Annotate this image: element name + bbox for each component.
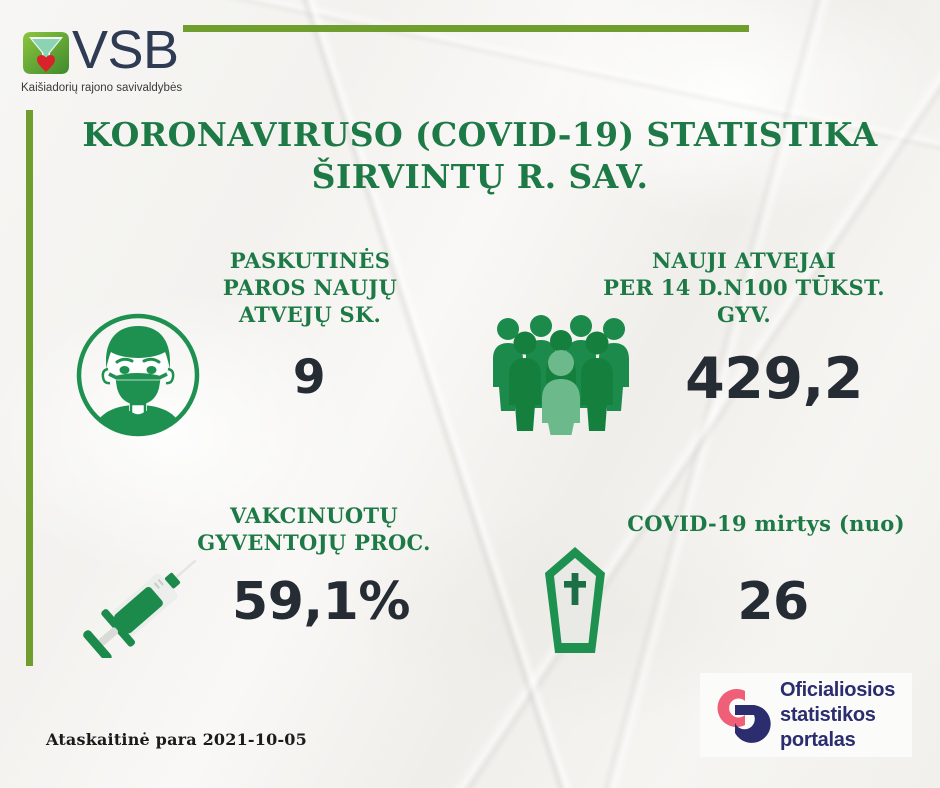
page-title-line-1: KORONAVIRUSO (COVID-19) STATISTIKA xyxy=(60,114,900,156)
official-statistics-portal-logo-icon xyxy=(704,679,776,751)
vsb-logo: VSB Kaišiadorių rajono savivaldybės xyxy=(20,27,195,95)
report-date: Ataskaitinė para 2021-10-05 xyxy=(46,730,307,749)
stat-label-line: PAROS NAUJŲ xyxy=(176,274,444,301)
coffin-icon xyxy=(539,545,611,655)
osp-wordmark-line-1: Oficialiosios xyxy=(780,678,895,703)
left-accent-rule xyxy=(26,110,33,666)
page-title: KORONAVIRUSO (COVID-19) STATISTIKA ŠIRVI… xyxy=(60,114,900,198)
page-title-line-2: ŠIRVINTŲ R. SAV. xyxy=(60,156,900,198)
osp-wordmark-line-3: portalas xyxy=(780,728,895,753)
stat-value-covid-deaths: 26 xyxy=(678,572,868,632)
stat-label-cases-per-100k: NAUJI ATVEJAIPER 14 D.N100 TŪKST.GYV. xyxy=(586,247,902,328)
stat-value-daily-new-cases: 9 xyxy=(246,352,372,404)
stat-label-line: GYVENTOJŲ PROC. xyxy=(178,529,450,556)
stat-label-line: PASKUTINĖS xyxy=(176,247,444,274)
stat-label-daily-new-cases: PASKUTINĖSPAROS NAUJŲATVEJŲ SK. xyxy=(176,247,444,328)
stat-value-vaccinated-percent: 59,1% xyxy=(196,572,446,632)
infographic-poster: VSB Kaišiadorių rajono savivaldybės KORO… xyxy=(0,0,940,788)
syringe-icon xyxy=(78,552,214,658)
stat-label-covid-deaths: COVID-19 mirtys (nuo) xyxy=(608,510,924,537)
stat-label-line: PER 14 D.N100 TŪKST. xyxy=(586,274,902,301)
stat-label-line: VAKCINUOTŲ xyxy=(178,502,450,529)
osp-wordmark-line-2: statistikos xyxy=(780,703,895,728)
vsb-logo-wordmark: VSB xyxy=(72,23,179,77)
official-statistics-portal-wordmark: Oficialiosios statistikos portalas xyxy=(780,678,895,753)
stat-value-cases-per-100k: 429,2 xyxy=(650,348,898,410)
masked-face-icon xyxy=(75,312,201,438)
official-statistics-portal-logo: Oficialiosios statistikos portalas xyxy=(700,673,912,757)
vsb-logo-subtitle: Kaišiadorių rajono savivaldybės xyxy=(21,82,182,94)
stat-label-vaccinated-percent: VAKCINUOTŲGYVENTOJŲ PROC. xyxy=(178,502,450,556)
vsb-tree-heart-logo-icon xyxy=(20,27,72,79)
stat-label-line: ATVEJŲ SK. xyxy=(176,301,444,328)
stat-label-line: NAUJI ATVEJAI xyxy=(586,247,902,274)
stat-label-line: GYV. xyxy=(586,301,902,328)
top-accent-rule xyxy=(183,25,749,32)
